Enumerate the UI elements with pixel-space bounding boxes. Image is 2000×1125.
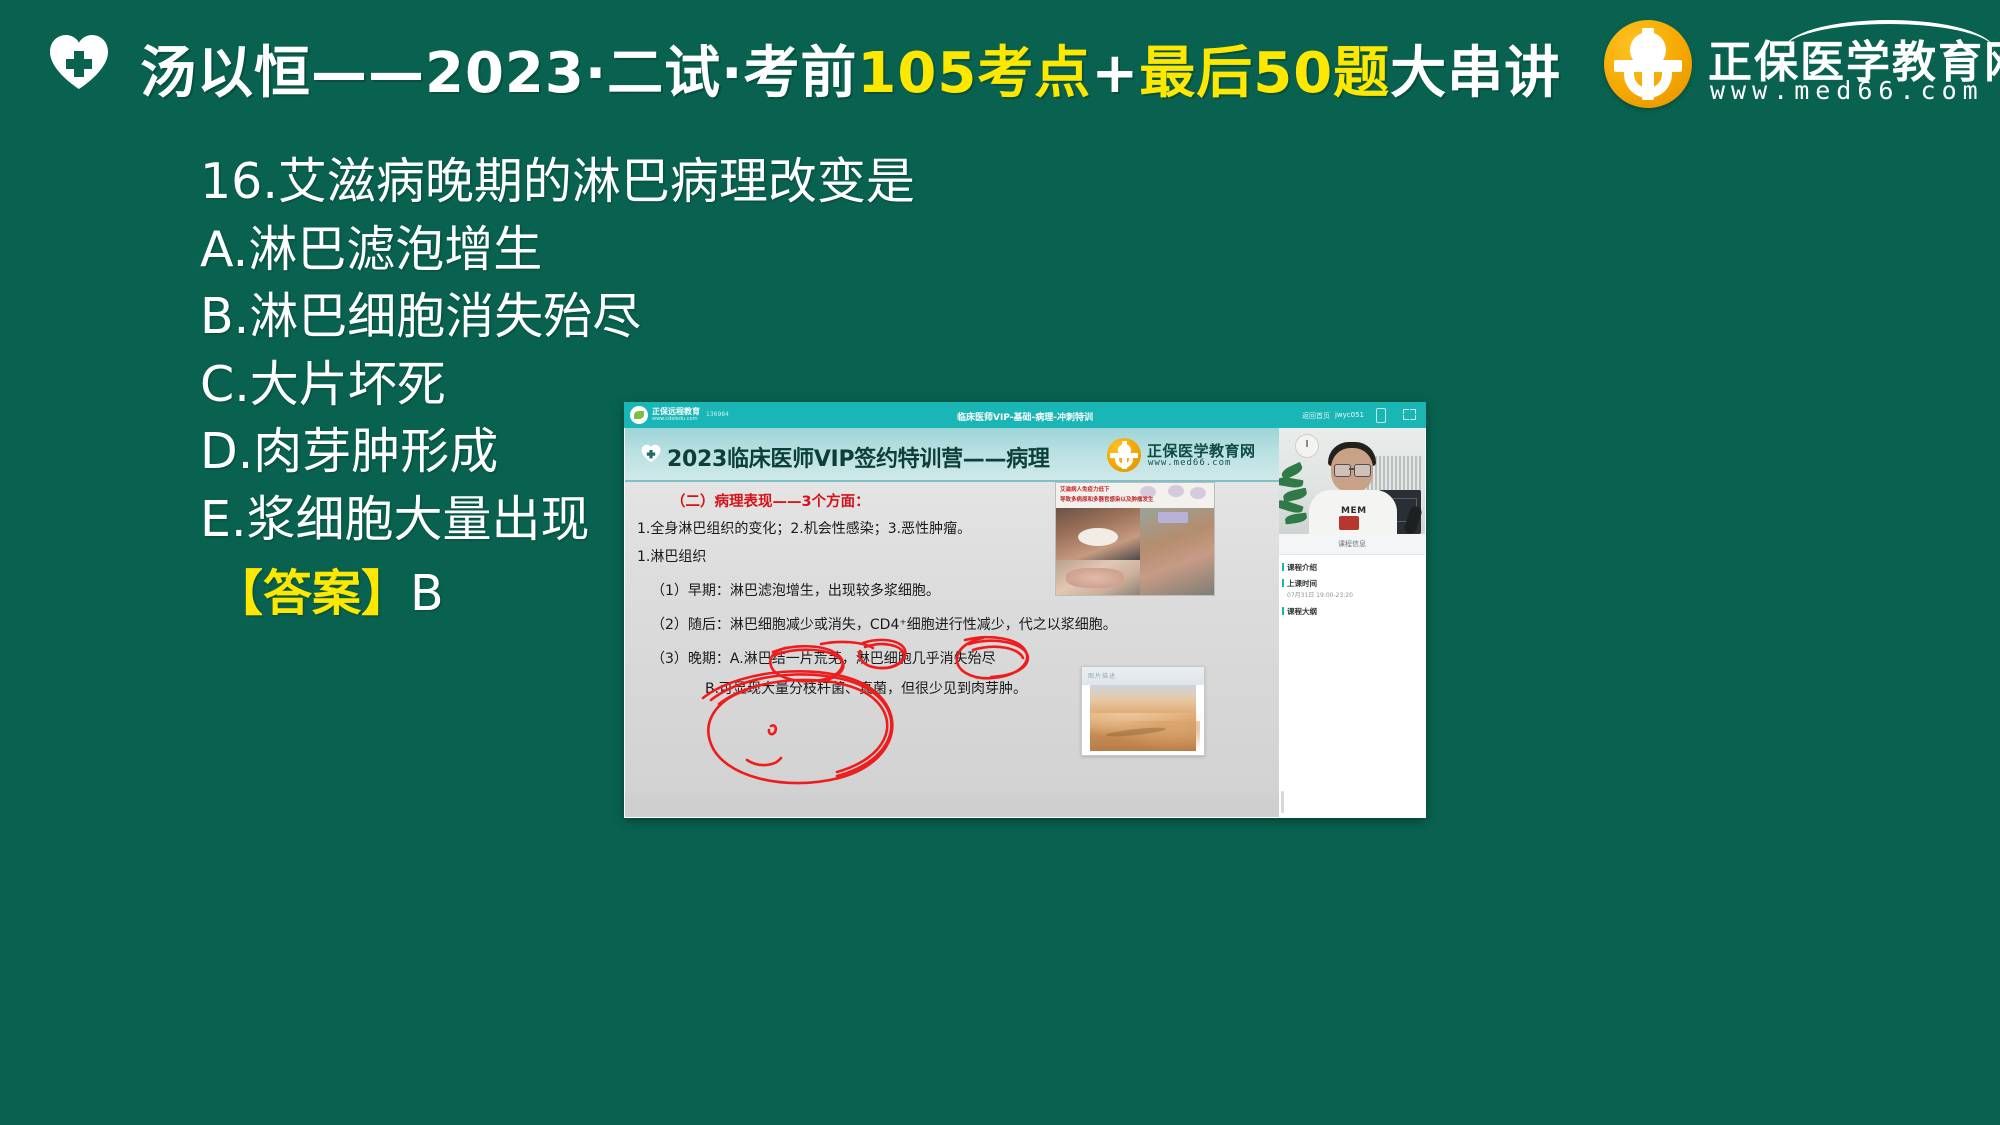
desert-caption-bar: 图片描述 xyxy=(1082,667,1204,685)
slide-heart-cross-icon xyxy=(641,444,661,463)
sidebar-class-time-value: 07月31日 19:00-23:20 xyxy=(1287,590,1353,599)
heart-cross-icon xyxy=(48,33,110,91)
option-b: B.淋巴细胞消失殆尽 xyxy=(200,283,900,351)
page-title: 汤以恒——2023·二试·考前105考点+最后50题大串讲 xyxy=(140,28,1561,109)
slide-brand-url: www.med66.com xyxy=(1148,458,1231,468)
sidebar-tab-course-info[interactable]: 课程信息 xyxy=(1279,534,1425,555)
sidebar-item-course-intro[interactable]: 课程介绍 xyxy=(1287,562,1317,573)
page-header: 汤以恒——2023·二试·考前105考点+最后50题大串讲 正保医学教育网 ww… xyxy=(0,0,2000,118)
photo-skin-lesion xyxy=(1056,560,1140,595)
slide-brand-circle-icon xyxy=(1107,438,1141,472)
player-top-bar: 正保远程教育 www.cdeledu.com 136984 临床医师VIP-基础… xyxy=(624,402,1426,428)
title-part-3: 大串讲 xyxy=(1390,41,1561,106)
slide-canvas: 2023临床医师VIP签约特训营——病理 正保医学教育网 www.med66.c… xyxy=(625,428,1279,795)
course-info-sidebar: 课程信息 课程介绍 上课时间 07月31日 19:00-23:20 课程大纲 xyxy=(1279,534,1425,817)
shirt-text: MEM xyxy=(1341,506,1367,516)
wall-clock-icon xyxy=(1295,434,1319,458)
slide-brand-logo: 正保医学教育网 www.med66.com xyxy=(1107,436,1269,474)
title-highlight-1: 105考点 xyxy=(857,41,1091,106)
medical-photo-collage: 艾滋病人免疫力低下 导致多病原和多器官感染以及肿瘤发生 xyxy=(1055,482,1215,596)
instructor-webcam-feed: MEM xyxy=(1279,428,1425,534)
photo-caption-line-1: 艾滋病人免疫力低下 xyxy=(1060,486,1110,495)
glasses-bridge xyxy=(1349,468,1354,470)
sidebar-tab-label: 课程信息 xyxy=(1279,539,1425,549)
option-a: A.淋巴滤泡增生 xyxy=(200,216,900,284)
desert-photo xyxy=(1090,685,1196,751)
photo-oral-candidiasis xyxy=(1056,508,1140,560)
brand-logo: 正保医学教育网 www.med66.com xyxy=(1604,18,1984,110)
photo-caption-line-2: 导致多病原和多器官感染以及肿瘤发生 xyxy=(1060,496,1154,505)
brand-circle-icon xyxy=(1604,20,1692,108)
slide-line-4: （2）随后：淋巴细胞减少或消失，CD4⁺细胞进行性减少，代之以浆细胞。 xyxy=(651,614,1117,634)
glasses-left-lens xyxy=(1334,464,1351,477)
back-home-link[interactable]: 返回首页 xyxy=(1302,411,1330,421)
slide-line-1: 1.全身淋巴组织的变化；2.机会性感染；3.恶性肿瘤。 xyxy=(637,518,971,538)
title-part-1: 汤以恒——2023·二试·考前 xyxy=(140,41,857,106)
slide-line-2: 1.淋巴组织 xyxy=(637,546,706,566)
brand-url: www.med66.com xyxy=(1710,76,1984,105)
glasses-right-lens xyxy=(1354,464,1371,477)
slide-line-3: （1）早期：淋巴滤泡增生，出现较多浆细胞。 xyxy=(651,580,940,600)
answer-label: 【答案】 xyxy=(214,565,410,622)
title-highlight-2: 最后50题 xyxy=(1139,41,1390,106)
question-stem: 16.艾滋病晚期的淋巴病理改变是 xyxy=(200,148,900,216)
caption-blob-2 xyxy=(1168,485,1184,497)
slide-section-title: （二）病理表现——3个方面： xyxy=(671,490,870,511)
answer-value: B xyxy=(410,565,444,622)
brand-bowl-shape xyxy=(1624,64,1672,98)
slide-brand-bowl xyxy=(1115,455,1133,468)
photo-cachexia-patient xyxy=(1140,508,1214,595)
user-name[interactable]: jwyc051 xyxy=(1335,411,1364,419)
slide-header: 2023临床医师VIP签约特训营——病理 正保医学教育网 www.med66.c… xyxy=(625,428,1279,482)
slide-stage[interactable]: 2023临床医师VIP签约特训营——病理 正保医学教育网 www.med66.c… xyxy=(625,428,1279,817)
mobile-icon[interactable] xyxy=(1376,408,1386,423)
slide-title: 2023临床医师VIP签约特训营——病理 xyxy=(667,441,1050,473)
desert-caption: 图片描述 xyxy=(1088,671,1116,680)
embedded-player-screenshot: 正保远程教育 www.cdeledu.com 136984 临床医师VIP-基础… xyxy=(624,402,1426,818)
slide-body: （二）病理表现——3个方面： 1.全身淋巴组织的变化；2.机会性感染；3.恶性肿… xyxy=(625,480,1279,795)
fullscreen-icon[interactable] xyxy=(1403,409,1416,420)
sidebar-scrollbar[interactable] xyxy=(1281,791,1284,813)
slide-line-6: B.可显现大量分枝杆菌、真菌，但很少见到肉芽肿。 xyxy=(705,678,1027,698)
title-part-2: + xyxy=(1091,41,1139,106)
sidebar-item-syllabus[interactable]: 课程大纲 xyxy=(1287,606,1317,617)
sidebar-item-class-time[interactable]: 上课时间 xyxy=(1287,578,1317,589)
caption-blob-3 xyxy=(1190,487,1206,499)
desert-image-card: 图片描述 xyxy=(1081,666,1205,756)
photo-caption-bar: 艾滋病人免疫力低下 导致多病原和多器官感染以及肿瘤发生 xyxy=(1056,483,1214,508)
shirt-graphic xyxy=(1339,516,1359,530)
slide-line-5: （3）晚期：A.淋巴结一片荒芜，淋巴细胞几乎消失殆尽 xyxy=(651,648,996,668)
